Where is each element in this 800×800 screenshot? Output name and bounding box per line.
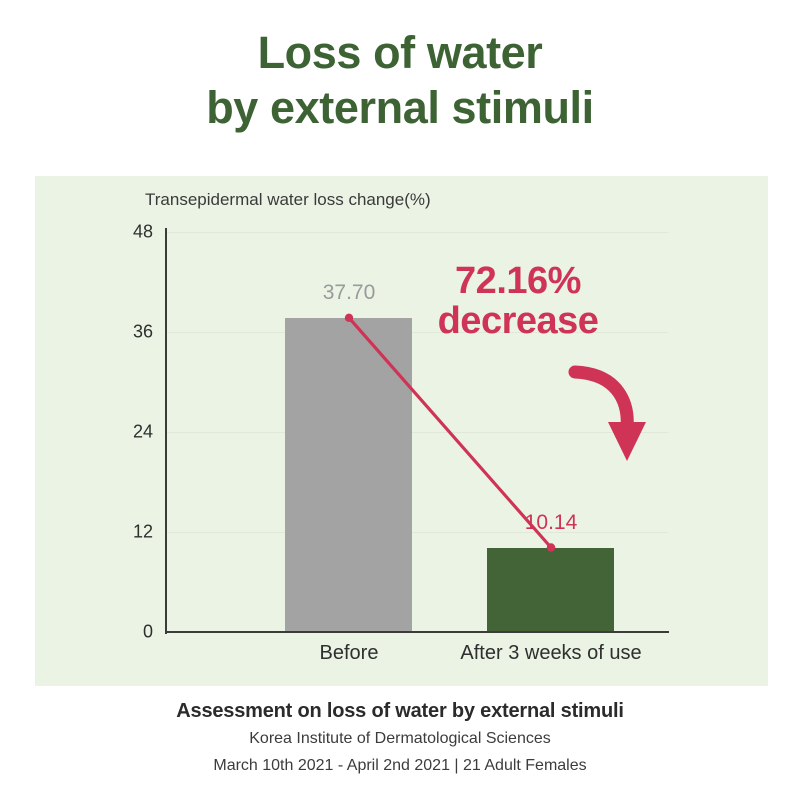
bar-value-before: 37.70 [323, 281, 376, 305]
bar-after[interactable] [487, 548, 614, 633]
y-axis-ticks: 48 36 24 12 0 [91, 176, 153, 686]
y-axis-title: Transepidermal water loss change(%) [145, 190, 431, 210]
x-tick-after: After 3 weeks of use [460, 642, 641, 665]
y-tick-48: 48 [93, 222, 153, 243]
page-title-line-1: Loss of water [0, 26, 800, 81]
decrease-callout: 72.16% decrease [413, 262, 623, 342]
y-axis-line [165, 228, 167, 634]
bar-value-after: 10.14 [525, 511, 578, 535]
y-tick-12: 12 [93, 522, 153, 543]
y-tick-24: 24 [93, 422, 153, 443]
gridline-12 [166, 532, 668, 533]
x-tick-before: Before [320, 642, 379, 665]
footer-heading: Assessment on loss of water by external … [0, 700, 800, 723]
x-axis-line [165, 631, 669, 633]
decrease-word: decrease [413, 302, 623, 342]
bar-before[interactable] [285, 318, 412, 632]
footer-period: March 10th 2021 - April 2nd 2021 | 21 Ad… [0, 754, 800, 777]
page-title: Loss of water by external stimuli [0, 26, 800, 136]
page-title-line-2: by external stimuli [0, 81, 800, 136]
chart-panel: Transepidermal water loss change(%) 48 3… [35, 176, 768, 686]
footer-institution: Korea Institute of Dermatological Scienc… [0, 727, 800, 750]
decrease-percent: 72.16% [413, 262, 623, 302]
footer: Assessment on loss of water by external … [0, 700, 800, 777]
y-tick-36: 36 [93, 322, 153, 343]
gridline-48 [166, 232, 668, 233]
y-tick-0: 0 [93, 622, 153, 643]
gridline-24 [166, 432, 668, 433]
